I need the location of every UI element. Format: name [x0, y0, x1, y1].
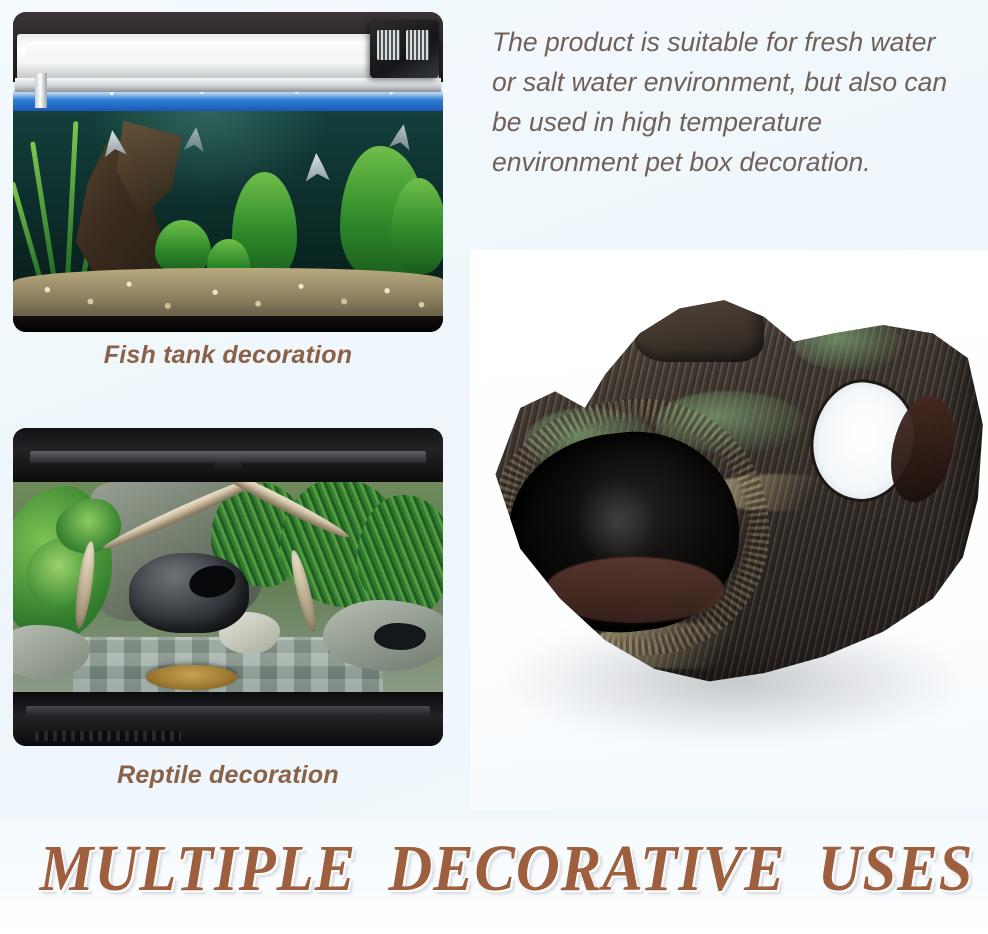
- aquarium-stand: [13, 316, 443, 332]
- reptile-caption: Reptile decoration: [13, 761, 443, 790]
- product-description: The product is suitable for fresh water …: [492, 22, 958, 182]
- aquarium-light-tube: [26, 41, 426, 57]
- terrarium-stone-cave: [129, 553, 249, 633]
- banner-headline: MULTIPLE DECORATIVE USES: [40, 836, 949, 902]
- aquarium-vent-grill: [406, 30, 429, 60]
- fish-tank-photo: [13, 12, 443, 332]
- aquarium-scene: [13, 12, 443, 332]
- terrarium-rock-crevice: [374, 623, 426, 650]
- aquarium-hood-lip: [15, 78, 441, 92]
- terrarium-bottom-frame: [13, 692, 443, 746]
- product-hero-image: [470, 250, 988, 810]
- terrarium-latch: [215, 456, 241, 474]
- reptile-photo: [13, 428, 443, 746]
- terrarium-scene: [13, 428, 443, 746]
- terrarium-vent-grill: [35, 731, 181, 741]
- aquarium-hood-endcap: [370, 20, 439, 78]
- poster-canvas: Fish tank decoration: [0, 0, 988, 934]
- fish-tank-caption: Fish tank decoration: [13, 341, 443, 370]
- aquarium-vent-grill: [377, 30, 400, 60]
- terrarium-water-bowl: [146, 665, 236, 690]
- aquarium-plant: [155, 220, 211, 274]
- aquarium-plant: [391, 178, 443, 274]
- aquarium-gravel: [13, 268, 443, 322]
- terrarium-top-frame: [13, 428, 443, 482]
- bottom-banner: MULTIPLE DECORATIVE USES: [0, 820, 988, 934]
- terrarium-interior: [13, 482, 443, 692]
- aquarium-hood-brace: [35, 73, 48, 108]
